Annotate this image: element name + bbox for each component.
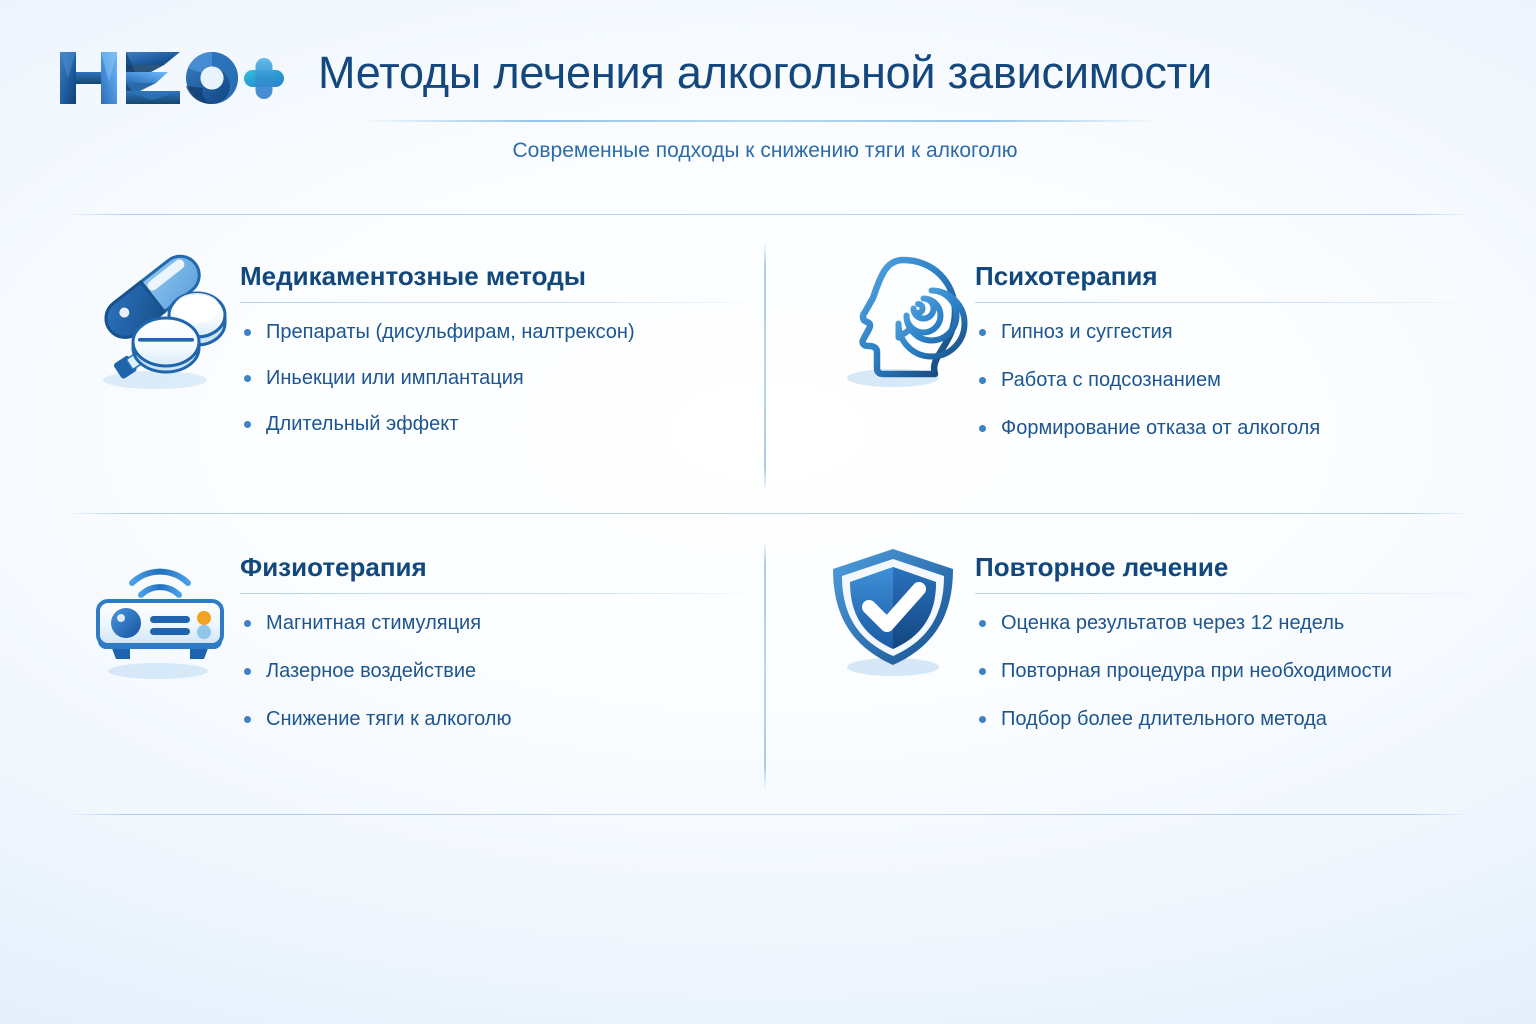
therapy-device-waves-icon [80, 539, 240, 689]
list-item: Магнитная стимуляция [240, 610, 750, 636]
list-item-label: Работа с подсознанием [1001, 369, 1221, 391]
card-body: Психотерапия Гипноз и суггестия Работа с… [975, 242, 1465, 463]
bullet-dot-icon [244, 668, 251, 675]
title-divider [360, 120, 1160, 122]
poster-header: Методы лечения алкогольной зависимости С… [0, 0, 1536, 200]
bullet-dot-icon [979, 716, 986, 723]
page-title: Методы лечения алкогольной зависимости [300, 44, 1230, 102]
card-body: Повторное лечение Оценка результатов чер… [975, 539, 1465, 754]
logo-plus-icon [244, 58, 284, 99]
list-item: Формирование отказа от алкоголя [975, 415, 1465, 441]
card-fizioterapiya: Физиотерапия Магнитная стимуляция Лазерн… [80, 539, 750, 754]
list-item-label: Гипноз и суггестия [1001, 321, 1173, 343]
list-item: Иньекции или имплантация [240, 365, 750, 391]
brand-logo [56, 42, 286, 114]
list-item-label: Препараты (дисульфирам, налтрексон) [266, 321, 635, 343]
card-title: Медикаментозные методы [240, 260, 750, 292]
bullet-dot-icon [979, 668, 986, 675]
list-item-label: Подбор более длительного метода [1001, 708, 1327, 730]
bullet-dot-icon [979, 620, 986, 627]
shield-check-icon [815, 539, 975, 689]
card-bullet-list: Оценка результатов через 12 недель Повто… [975, 594, 1465, 732]
logo-letter-e [126, 52, 180, 104]
head-spiral-icon [815, 242, 975, 402]
list-item: Гипноз и суггестия [975, 319, 1465, 345]
list-item-label: Магнитная стимуляция [266, 612, 481, 634]
list-item-label: Снижение тяги к алкоголю [266, 708, 511, 730]
card-medikamentoznye-metody: Медикаментозные методы Препараты (дисуль… [80, 242, 750, 437]
bullet-dot-icon [244, 375, 251, 382]
card-psihoterapiya: Психотерапия Гипноз и суггестия Работа с… [815, 242, 1465, 463]
list-item-label: Длительный эффект [266, 413, 458, 435]
bullet-dot-icon [244, 329, 251, 336]
card-title: Повторное лечение [975, 551, 1465, 583]
card-bullet-list: Препараты (дисульфирам, налтрексон) Инье… [240, 303, 750, 437]
card-bullet-list: Магнитная стимуляция Лазерное воздействи… [240, 594, 750, 732]
list-item: Работа с подсознанием [975, 367, 1465, 393]
bullet-dot-icon [244, 620, 251, 627]
list-item: Препараты (дисульфирам, налтрексон) [240, 319, 750, 345]
divider-bottom [72, 814, 1464, 815]
list-item-label: Оценка результатов через 12 недель [1001, 612, 1344, 634]
card-title: Физиотерапия [240, 551, 750, 583]
list-item: Снижение тяги к алкоголю [240, 706, 750, 732]
list-item-label: Иньекции или имплантация [266, 367, 524, 389]
list-item-label: Формирование отказа от алкоголя [1001, 417, 1320, 439]
bullet-dot-icon [979, 329, 986, 336]
logo-artwork [56, 42, 286, 114]
cards-grid: Медикаментозные методы Препараты (дисуль… [0, 214, 1536, 814]
list-item: Повторная процедура при необходимости [975, 658, 1465, 684]
bullet-dot-icon [979, 425, 986, 432]
bullet-dot-icon [244, 716, 251, 723]
page-subtitle: Современные подходы к снижению тяги к ал… [300, 136, 1230, 166]
pills-syringe-icon [80, 242, 240, 402]
bullet-dot-icon [244, 421, 251, 428]
logo-letter-o [186, 52, 238, 104]
card-title: Психотерапия [975, 260, 1465, 292]
list-item: Длительный эффект [240, 411, 750, 437]
list-item: Лазерное воздействие [240, 658, 750, 684]
tablet-scored-part [133, 318, 199, 372]
list-item: Подбор более длительного метода [975, 706, 1465, 732]
bullet-dot-icon [979, 377, 986, 384]
infographic-poster: Методы лечения алкогольной зависимости С… [0, 0, 1536, 1024]
logo-letter-n [60, 52, 117, 104]
list-item: Оценка результатов через 12 недель [975, 610, 1465, 636]
card-povtornoe-lechenie: Повторное лечение Оценка результатов чер… [815, 539, 1465, 754]
list-item-label: Лазерное воздействие [266, 660, 476, 682]
card-body: Медикаментозные методы Препараты (дисуль… [240, 242, 750, 437]
card-bullet-list: Гипноз и суггестия Работа с подсознанием… [975, 303, 1465, 441]
card-body: Физиотерапия Магнитная стимуляция Лазерн… [240, 539, 750, 754]
list-item-label: Повторная процедура при необходимости [1001, 660, 1392, 682]
